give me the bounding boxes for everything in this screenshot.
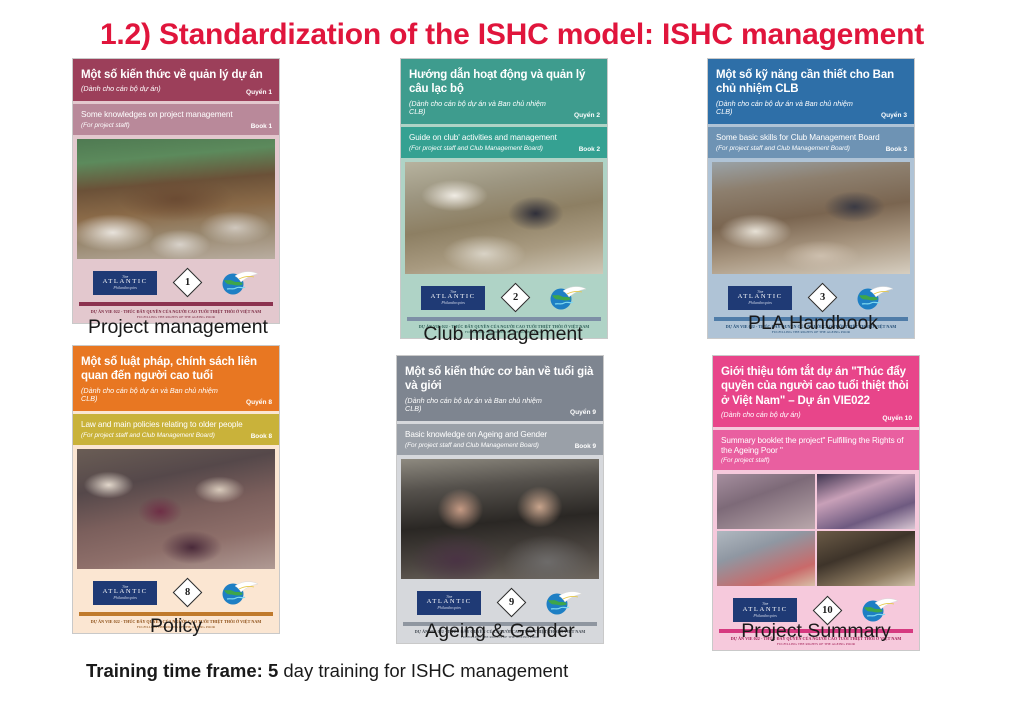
logo-philanthropies-text: Philanthropies bbox=[437, 606, 461, 610]
book-number-badge-9: 9 bbox=[497, 588, 527, 618]
book-subtitle-vn-3: (Dành cho cán bộ dự án và Ban chủ nhiệm … bbox=[716, 100, 906, 117]
book-logo-row-9: The ATLANTIC Philanthropies 9 bbox=[397, 582, 603, 622]
caption-pla-handbook: PLA Handbook bbox=[688, 312, 938, 335]
book-photo-2 bbox=[405, 162, 603, 274]
book-subtitle-band-8: Law and main policies relating to older … bbox=[73, 414, 279, 445]
logo-philanthropies-text: Philanthropies bbox=[113, 596, 137, 600]
collage-cell-4 bbox=[817, 531, 915, 586]
book-photo-1 bbox=[77, 139, 275, 259]
book-number-9: 9 bbox=[509, 597, 514, 608]
book-volume-label-3: Quyển 3 bbox=[881, 112, 907, 119]
collage-cell-2 bbox=[817, 474, 915, 529]
book-footer-vn-1: DỰ ÁN VIE 022 - THÚC ĐẨY QUYỀN CỦA NGƯỜI… bbox=[77, 309, 275, 314]
book-number-8: 8 bbox=[185, 587, 190, 598]
book-volume-label-9: Quyển 9 bbox=[570, 409, 596, 416]
book-audience-en-9: (For project staff and Club Management B… bbox=[405, 442, 595, 449]
book-volume-label-10: Quyển 10 bbox=[882, 415, 912, 422]
globe-dove-icon bbox=[547, 285, 587, 311]
book-volume-label-1: Quyển 1 bbox=[246, 89, 272, 96]
book-volume-label-2: Quyển 2 bbox=[574, 112, 600, 119]
book-title-vn-3: Một số kỹ năng cần thiết cho Ban chủ nhi… bbox=[716, 68, 906, 97]
book-audience-en-2: (For project staff and Club Management B… bbox=[409, 145, 599, 152]
book-title-band-1: Một số kiến thức về quản lý dự án (Dành … bbox=[73, 59, 279, 101]
atlantic-philanthropies-logo: The ATLANTIC Philanthropies bbox=[93, 271, 157, 295]
book-logo-row-1: The ATLANTIC Philanthropies 1 bbox=[73, 262, 279, 302]
book-subtitle-vn-8: (Dành cho cán bộ dự án và Ban chủ nhiệm … bbox=[81, 387, 271, 404]
book-logo-row-3: The ATLANTIC Philanthropies 3 bbox=[708, 277, 914, 317]
book-cover-1[interactable]: Một số kiến thức về quản lý dự án (Dành … bbox=[72, 58, 280, 324]
book-number-1: 1 bbox=[185, 277, 190, 288]
slide-canvas: 1.2) Standardization of the ISHC model: … bbox=[0, 0, 1024, 724]
atlantic-philanthropies-logo: The ATLANTIC Philanthropies bbox=[417, 591, 481, 615]
photo-collage-10 bbox=[717, 474, 915, 586]
book-title-band-3: Một số kỹ năng cần thiết cho Ban chủ nhi… bbox=[708, 59, 914, 124]
page-title: 1.2) Standardization of the ISHC model: … bbox=[0, 18, 1024, 52]
book-subtitle-band-2: Guide on club' activities and management… bbox=[401, 127, 607, 158]
book-cover-8[interactable]: Một số luật pháp, chính sách liên quan đ… bbox=[72, 345, 280, 634]
book-number-label-3: Book 3 bbox=[886, 146, 907, 153]
book-subtitle-band-9: Basic knowledge on Ageing and Gender (Fo… bbox=[397, 424, 603, 455]
book-subtitle-band-10: Summary booklet the project" Fulfilling … bbox=[713, 430, 919, 471]
caption-club-management: Club management bbox=[348, 323, 658, 346]
book-number-badge-1: 1 bbox=[173, 268, 203, 298]
globe-dove-icon bbox=[219, 580, 259, 606]
book-number-label-1: Book 1 bbox=[251, 123, 272, 130]
book-audience-en-8: (For project staff and Club Management B… bbox=[81, 432, 271, 439]
book-title-vn-8: Một số luật pháp, chính sách liên quan đ… bbox=[81, 355, 271, 384]
book-number-3: 3 bbox=[820, 292, 825, 303]
book-volume-label-8: Quyển 8 bbox=[246, 399, 272, 406]
book-subtitle-vn-2: (Dành cho cán bộ dự án và Ban chủ nhiệm … bbox=[409, 100, 599, 117]
book-subtitle-band-1: Some knowledges on project management (F… bbox=[73, 104, 279, 135]
book-cover-9[interactable]: Một số kiến thức cơ bản về tuổi già và g… bbox=[396, 355, 604, 644]
globe-dove-icon bbox=[219, 270, 259, 296]
book-photo-10 bbox=[717, 474, 915, 586]
book-title-vn-2: Hướng dẫn hoạt động và quản lý câu lạc b… bbox=[409, 68, 599, 97]
book-cover-2[interactable]: Hướng dẫn hoạt động và quản lý câu lạc b… bbox=[400, 58, 608, 339]
book-number-10: 10 bbox=[823, 605, 834, 616]
book-cover-3[interactable]: Một số kỹ năng cần thiết cho Ban chủ nhi… bbox=[707, 58, 915, 339]
training-time-frame-note: Training time frame: 5 day training for … bbox=[86, 660, 568, 682]
book-audience-en-10: (For project staff) bbox=[721, 457, 911, 464]
book-number-badge-8: 8 bbox=[173, 578, 203, 608]
atlantic-philanthropies-logo: The ATLANTIC Philanthropies bbox=[421, 286, 485, 310]
book-subtitle-band-3: Some basic skills for Club Management Bo… bbox=[708, 127, 914, 158]
collage-cell-1 bbox=[717, 474, 815, 529]
book-number-2: 2 bbox=[513, 292, 518, 303]
book-logo-row-8: The ATLANTIC Philanthropies 8 bbox=[73, 572, 279, 612]
book-title-vn-9: Một số kiến thức cơ bản về tuổi già và g… bbox=[405, 365, 595, 394]
book-title-band-8: Một số luật pháp, chính sách liên quan đ… bbox=[73, 346, 279, 411]
book-number-badge-2: 2 bbox=[501, 283, 531, 313]
caption-ageing-gender: Ageing & Gender bbox=[396, 620, 604, 643]
book-photo-3 bbox=[712, 162, 910, 274]
book-title-vn-1: Một số kiến thức về quản lý dự án bbox=[81, 68, 271, 82]
book-number-label-8: Book 8 bbox=[251, 433, 272, 440]
book-audience-en-3: (For project staff and Club Management B… bbox=[716, 145, 906, 152]
caption-project-management: Project management bbox=[0, 316, 356, 339]
book-title-en-8: Law and main policies relating to older … bbox=[81, 420, 271, 430]
book-title-band-10: Giới thiệu tóm tắt dự án "Thúc đẩy quyền… bbox=[713, 356, 919, 427]
globe-dove-icon bbox=[543, 590, 583, 616]
book-title-en-1: Some knowledges on project management bbox=[81, 110, 271, 120]
atlantic-philanthropies-logo: The ATLANTIC Philanthropies bbox=[93, 581, 157, 605]
book-title-band-2: Hướng dẫn hoạt động và quản lý câu lạc b… bbox=[401, 59, 607, 124]
globe-dove-icon bbox=[854, 285, 894, 311]
training-time-frame-rest: day training for ISHC management bbox=[278, 660, 568, 681]
book-title-band-9: Một số kiến thức cơ bản về tuổi già và g… bbox=[397, 356, 603, 421]
book-logo-row-2: The ATLANTIC Philanthropies 2 bbox=[401, 277, 607, 317]
logo-philanthropies-text: Philanthropies bbox=[113, 286, 137, 290]
atlantic-philanthropies-logo: The ATLANTIC Philanthropies bbox=[728, 286, 792, 310]
book-audience-en-1: (For project staff) bbox=[81, 122, 271, 129]
book-number-badge-3: 3 bbox=[808, 283, 838, 313]
logo-philanthropies-text: Philanthropies bbox=[748, 301, 772, 305]
book-title-en-9: Basic knowledge on Ageing and Gender bbox=[405, 430, 595, 440]
training-time-frame-bold: Training time frame: 5 bbox=[86, 660, 278, 681]
book-title-en-3: Some basic skills for Club Management Bo… bbox=[716, 133, 906, 143]
book-photo-9 bbox=[401, 459, 599, 579]
book-title-vn-10: Giới thiệu tóm tắt dự án "Thúc đẩy quyền… bbox=[721, 365, 911, 408]
book-cover-10[interactable]: Giới thiệu tóm tắt dự án "Thúc đẩy quyền… bbox=[712, 355, 920, 651]
atlantic-philanthropies-logo: The ATLANTIC Philanthropies bbox=[733, 598, 797, 622]
book-title-en-2: Guide on club' activities and management bbox=[409, 133, 599, 143]
caption-policy: Policy bbox=[72, 615, 280, 638]
book-footer-en-10: FULFILLING THE RIGHTS OF THE AGEING POOR bbox=[717, 642, 915, 646]
book-subtitle-vn-1: (Dành cho cán bộ dự án) bbox=[81, 85, 271, 94]
caption-project-summary: Project Summary bbox=[712, 620, 920, 643]
logo-philanthropies-text: Philanthropies bbox=[441, 301, 465, 305]
book-photo-8 bbox=[77, 449, 275, 569]
book-number-label-9: Book 9 bbox=[575, 443, 596, 450]
book-subtitle-vn-9: (Dành cho cán bộ dự án và Ban chủ nhiệm … bbox=[405, 397, 595, 414]
book-number-label-2: Book 2 bbox=[579, 146, 600, 153]
logo-philanthropies-text: Philanthropies bbox=[753, 614, 777, 618]
book-title-en-10: Summary booklet the project" Fulfilling … bbox=[721, 436, 911, 456]
collage-cell-3 bbox=[717, 531, 815, 586]
